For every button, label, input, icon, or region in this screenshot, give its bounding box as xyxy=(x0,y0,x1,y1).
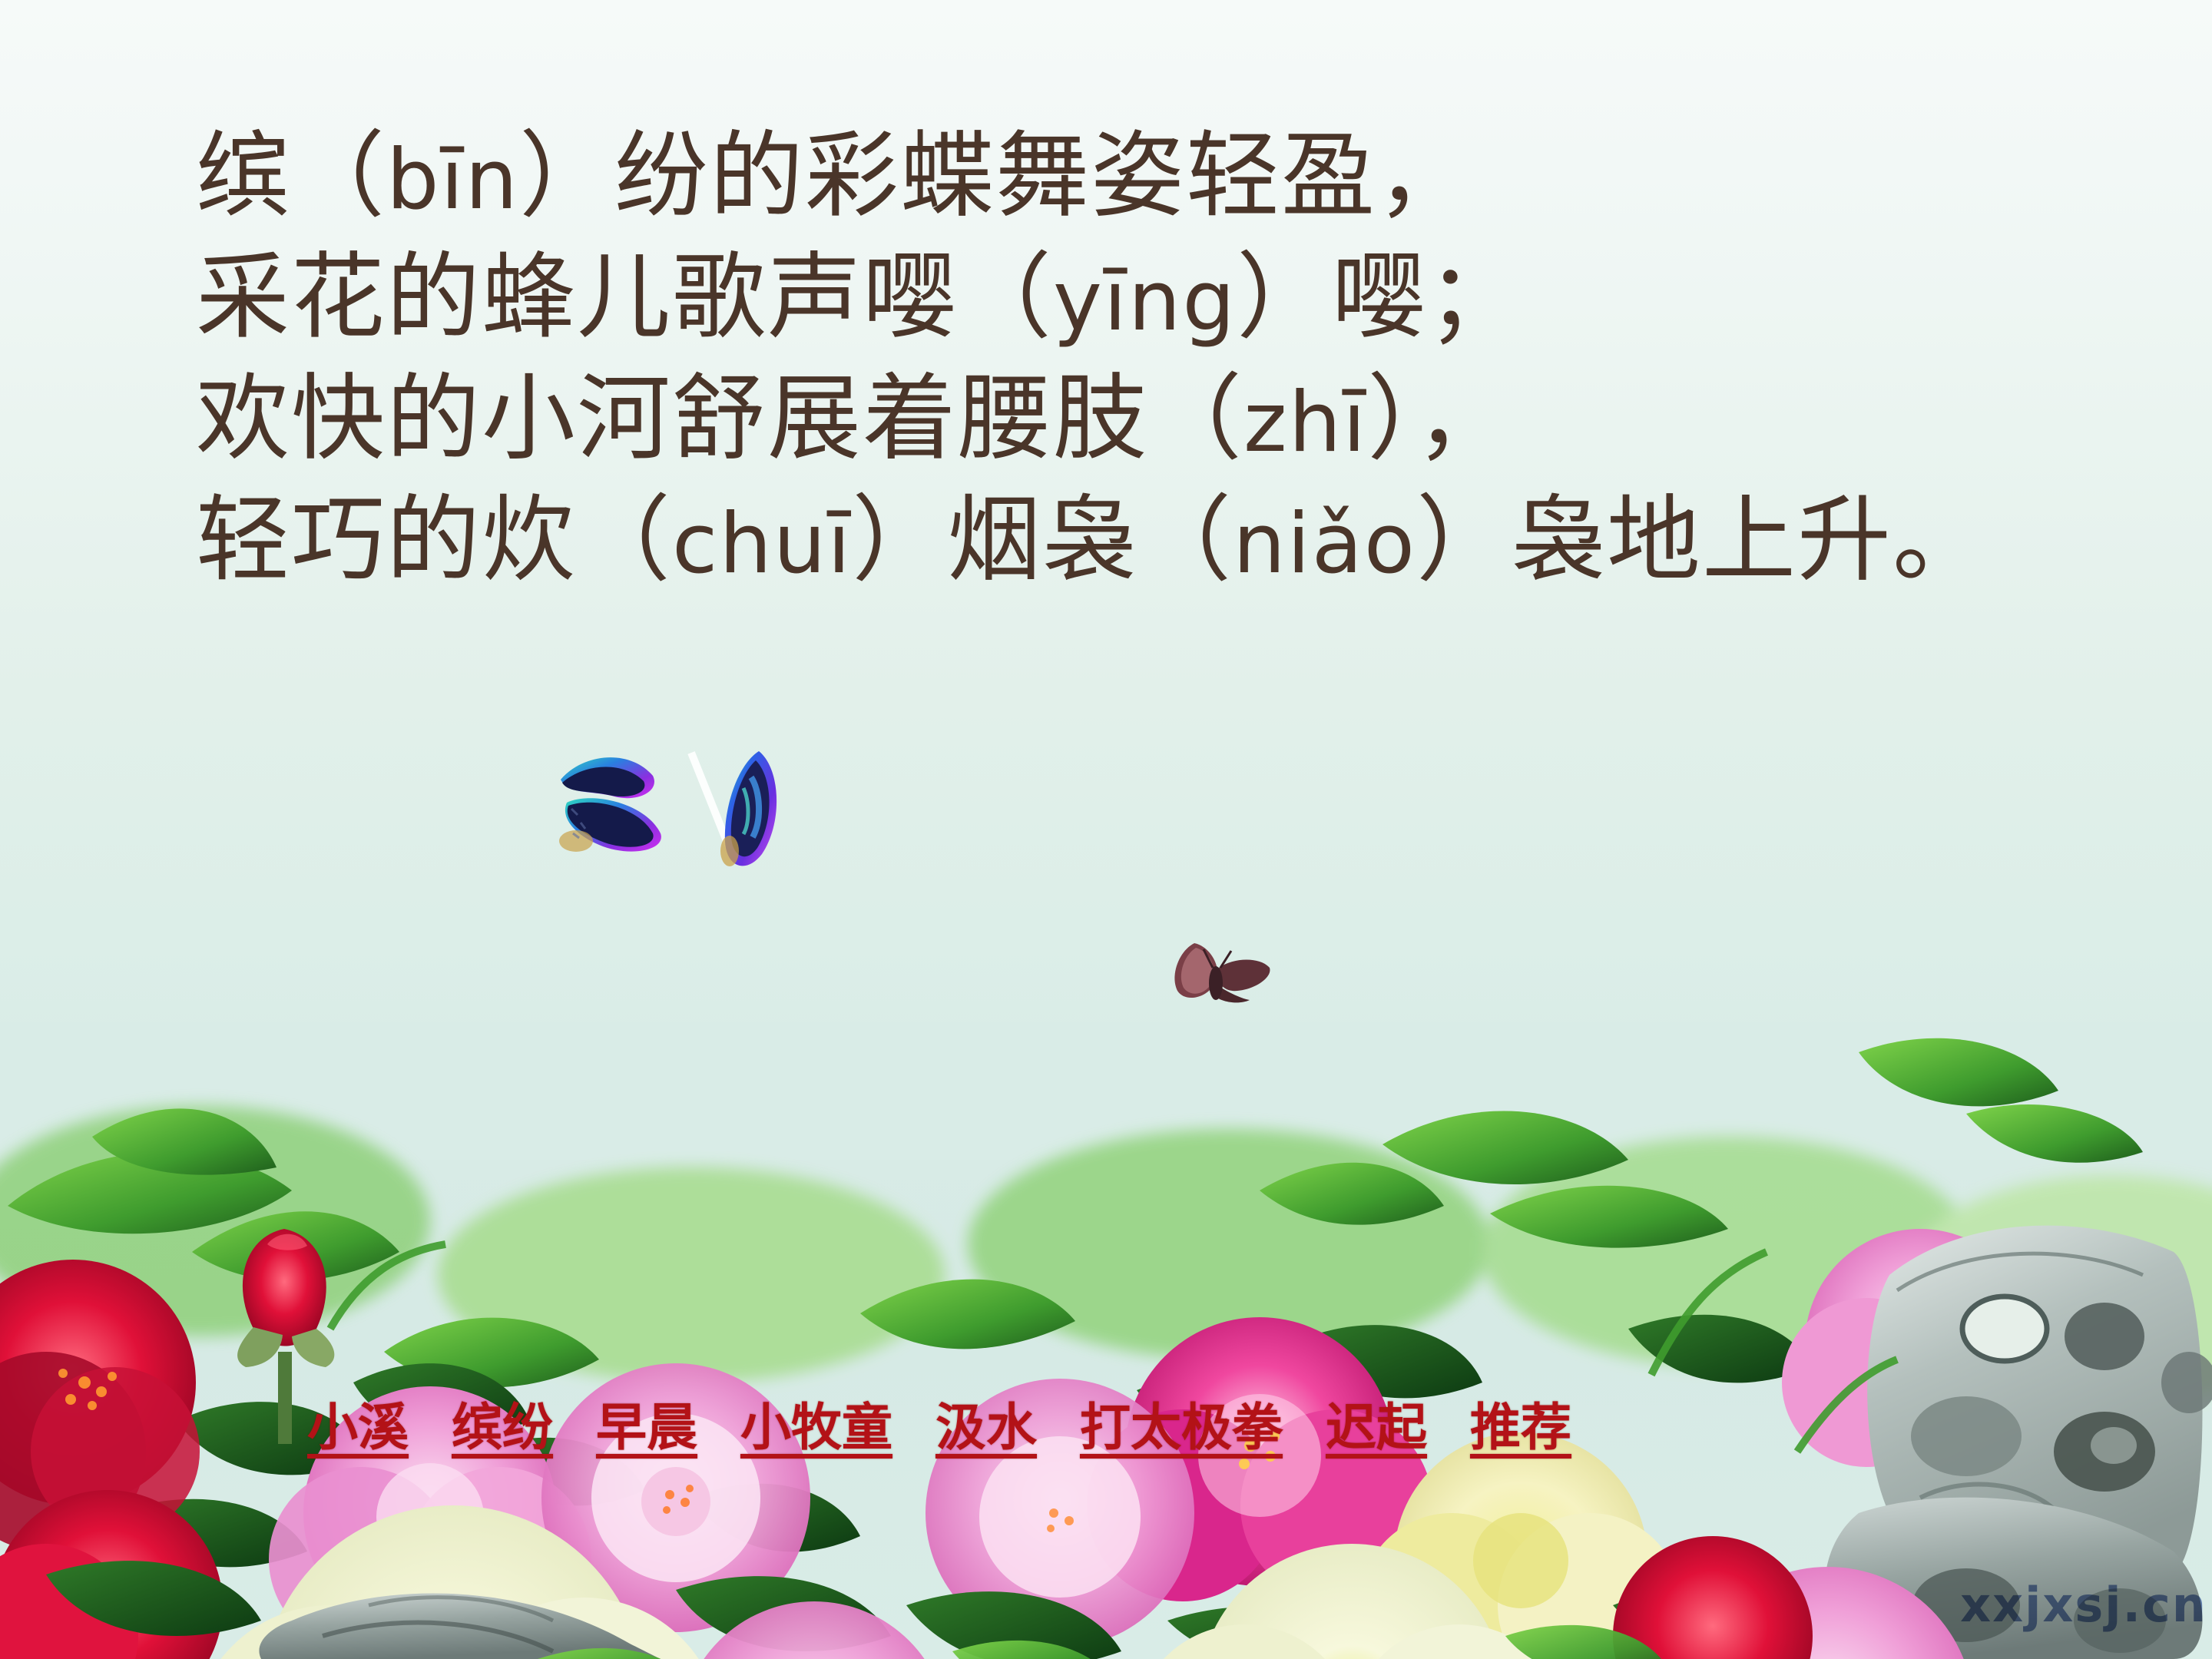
poem-line-4-suffix: ）袅地上升。 xyxy=(1416,485,1988,594)
word-item-3[interactable]: 早晨 xyxy=(596,1396,697,1458)
poem-line-2-prefix: 采花的蜂儿歌声嘤（ xyxy=(196,243,1053,352)
pinyin-chui: chuī xyxy=(672,496,852,592)
poem-line-4: 轻巧的炊（chuī）烟袅（niǎo）袅地上升。 xyxy=(196,479,2193,601)
pinyin-ying: yīng xyxy=(1053,253,1237,349)
poem-text-block: 缤（bīn）纷的彩蝶舞姿轻盈， 采花的蜂儿歌声嘤（yīng）嘤； 欢快的小河舒展… xyxy=(196,115,2193,601)
poem-line-4-prefix: 轻巧的炊（ xyxy=(196,485,672,594)
poem-line-3-suffix: ）， xyxy=(1367,364,1511,473)
poem-line-2: 采花的蜂儿歌声嘤（yīng）嘤； xyxy=(196,237,2193,358)
site-watermark: xxjxsj.cn xyxy=(1960,1577,2207,1633)
word-item-4[interactable]: 小牧童 xyxy=(740,1396,892,1458)
vocabulary-word-list: 小溪 缤纷 早晨 小牧童 汲水 打太极拳 迟起 推荐 xyxy=(307,1396,1571,1458)
poem-line-3: 欢快的小河舒展着腰肢（zhī）， xyxy=(196,358,2193,479)
pinyin-niao: niǎo xyxy=(1233,496,1416,592)
pinyin-bin: bīn xyxy=(386,132,519,228)
maroon-butterfly-icon xyxy=(1148,928,1279,1012)
poem-line-4-mid: ）烟袅（ xyxy=(852,485,1233,594)
word-item-1[interactable]: 小溪 xyxy=(307,1396,409,1458)
blue-butterfly-right-icon xyxy=(676,737,791,879)
word-item-2[interactable]: 缤纷 xyxy=(452,1396,553,1458)
word-item-8[interactable]: 推荐 xyxy=(1470,1396,1571,1458)
poem-line-2-suffix: ）嘤； xyxy=(1237,243,1522,352)
poem-line-1-prefix: 缤（ xyxy=(196,121,386,230)
blue-butterfly-left-icon xyxy=(538,749,676,879)
poem-line-1-suffix: ）纷的彩蝶舞姿轻盈， xyxy=(519,121,1472,230)
pinyin-zhi: zhī xyxy=(1243,375,1367,471)
poem-line-1: 缤（bīn）纷的彩蝶舞姿轻盈， xyxy=(196,115,2193,237)
slide-canvas: 缤（bīn）纷的彩蝶舞姿轻盈， 采花的蜂儿歌声嘤（yīng）嘤； 欢快的小河舒展… xyxy=(0,0,2212,1659)
word-item-6[interactable]: 打太极拳 xyxy=(1080,1396,1283,1458)
word-item-5[interactable]: 汲水 xyxy=(935,1396,1037,1458)
poem-line-3-prefix: 欢快的小河舒展着腰肢（ xyxy=(196,364,1243,473)
flower-garden-illustration xyxy=(0,1022,2212,1659)
word-item-7[interactable]: 迟起 xyxy=(1326,1396,1427,1458)
